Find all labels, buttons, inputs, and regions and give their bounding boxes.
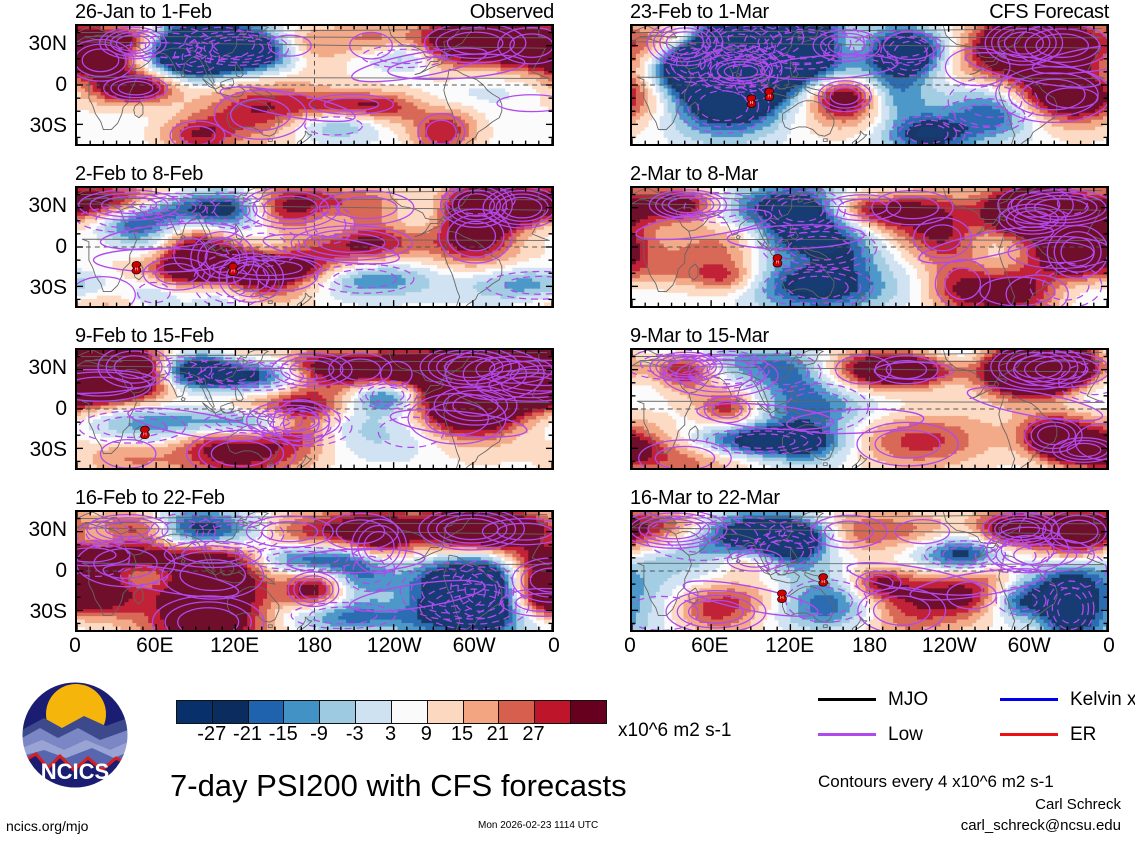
legend-label: ER [1070, 725, 1096, 744]
x-tick-label: 120W [922, 634, 977, 658]
y-tick-label: 0 [55, 235, 67, 259]
y-tick-label: 30S [30, 114, 67, 138]
x-tick-label: 180 [297, 634, 332, 658]
map-plot-area [630, 348, 1109, 470]
x-tick-label: 120W [367, 634, 422, 658]
x-axis-left: 060E120E180120W60W0 [75, 630, 554, 656]
legend-entry: Kelvin x2 [1000, 690, 1135, 709]
y-axis-labels: 30N030S [5, 510, 67, 632]
legend-label: MJO [888, 690, 928, 709]
map-plot-area: H H [630, 510, 1109, 632]
map-panel: 26-Jan to 1-FebObserved30N030S [75, 24, 554, 146]
colorbar-units-label: x10^6 m2 s-1 [618, 720, 731, 742]
map-plot-area: H [75, 348, 554, 470]
colorbar-tick-label: -9 [310, 723, 328, 746]
author-email: carl_schreck@ncsu.edu [961, 817, 1121, 834]
colorbar-tick-label: 27 [522, 723, 544, 746]
map-panel: 16-Mar to 22-Mar H H [630, 510, 1109, 632]
contour-interval-note: Contours every 4 x10^6 m2 s-1 [818, 772, 1054, 792]
y-tick-label: 30N [28, 194, 67, 218]
map-plot-area [75, 24, 554, 146]
colorbar-tick-label: -3 [346, 723, 364, 746]
panel-title: 2-Mar to 8-Mar [630, 164, 758, 184]
y-tick-label: 30S [30, 600, 67, 624]
colorbar-tick-labels: -27-21-15-9-339152127 [176, 723, 605, 747]
y-axis-labels: 30N030S [5, 348, 67, 470]
colorbar-segment [499, 701, 535, 723]
colorbar-tick-label: 3 [385, 723, 396, 746]
y-tick-label: 30N [28, 32, 67, 56]
ncics-logo-icon: NCICS [14, 678, 136, 796]
colorbar-tick-label: 15 [451, 723, 473, 746]
colorbar-segment [464, 701, 500, 723]
series-legend: MJOLowKelvin x2ER [818, 685, 1128, 745]
x-tick-label: 0 [69, 634, 81, 658]
colorbar-segment [428, 701, 464, 723]
legend-label: Low [888, 725, 923, 744]
map-panel: 23-Feb to 1-MarCFS Forecast H H [630, 24, 1109, 146]
colorbar-tick-label: -21 [233, 723, 262, 746]
legend-line-swatch [818, 698, 876, 701]
y-axis-labels: 30N030S [5, 24, 67, 146]
ncics-logo-text: NCICS [41, 759, 109, 784]
panel-title: 23-Feb to 1-Mar [630, 2, 769, 22]
author-name: Carl Schreck [1035, 796, 1121, 813]
map-plot-area: H H [630, 24, 1109, 146]
x-tick-label: 180 [852, 634, 887, 658]
panel-title: 16-Feb to 22-Feb [75, 488, 225, 508]
x-tick-label: 60E [136, 634, 173, 658]
y-tick-label: 30S [30, 276, 67, 300]
figure-canvas: 26-Jan to 1-FebObserved30N030S2-Feb to 8… [0, 0, 1135, 844]
colorbar-tick-label: -27 [197, 723, 226, 746]
x-tick-label: 120E [765, 634, 814, 658]
panel-column-header: Observed [470, 2, 554, 22]
colorbar-segment [571, 701, 606, 723]
colorbar-tick-label: 9 [421, 723, 432, 746]
colorbar [176, 700, 607, 724]
legend-label: Kelvin x2 [1070, 690, 1135, 709]
panel-title: 9-Feb to 15-Feb [75, 326, 214, 346]
colorbar-segment [213, 701, 249, 723]
generation-timestamp: Mon 2026-02-23 1114 UTC [478, 820, 598, 831]
colorbar-segment [392, 701, 428, 723]
colorbar-segment [284, 701, 320, 723]
map-panel: 2-Feb to 8-Feb H H 30N030S [75, 186, 554, 308]
site-url: ncics.org/mjo [6, 818, 88, 834]
map-plot-area: H [630, 186, 1109, 308]
map-plot-area: H H [75, 186, 554, 308]
panel-column-header: CFS Forecast [989, 2, 1109, 22]
panel-title: 2-Feb to 8-Feb [75, 164, 203, 184]
y-axis-labels: 30N030S [5, 186, 67, 308]
y-tick-label: 30S [30, 438, 67, 462]
colorbar-segment [177, 701, 213, 723]
map-panel: 16-Feb to 22-Feb30N030S [75, 510, 554, 632]
y-tick-label: 30N [28, 356, 67, 380]
y-tick-label: 0 [55, 73, 67, 97]
colorbar-tick-label: -15 [269, 723, 298, 746]
colorbar-tick-label: 21 [487, 723, 509, 746]
legend-entry: Low [818, 725, 923, 744]
y-tick-label: 30N [28, 518, 67, 542]
colorbar-segment [320, 701, 356, 723]
legend-line-swatch [1000, 733, 1058, 736]
map-panel: 2-Mar to 8-Mar H [630, 186, 1109, 308]
legend-entry: MJO [818, 690, 928, 709]
panel-title: 9-Mar to 15-Mar [630, 326, 769, 346]
x-tick-label: 120E [210, 634, 259, 658]
x-tick-label: 60W [1008, 634, 1051, 658]
x-tick-label: 0 [1103, 634, 1115, 658]
legend-line-swatch [1000, 698, 1058, 701]
map-panel: 9-Feb to 15-Feb H 30N030S [75, 348, 554, 470]
x-tick-label: 60E [691, 634, 728, 658]
legend-line-swatch [818, 733, 876, 736]
colorbar-segment [535, 701, 571, 723]
legend-entry: ER [1000, 725, 1096, 744]
y-tick-label: 0 [55, 559, 67, 583]
ncics-logo: NCICS [14, 678, 136, 796]
colorbar-segment [356, 701, 392, 723]
map-panel: 9-Mar to 15-Mar [630, 348, 1109, 470]
main-title: 7-day PSI200 with CFS forecasts [170, 768, 627, 804]
x-tick-label: 60W [453, 634, 496, 658]
panel-title: 26-Jan to 1-Feb [75, 2, 212, 22]
colorbar-segment [249, 701, 285, 723]
x-axis-right: 060E120E180120W60W0 [630, 630, 1109, 656]
y-tick-label: 0 [55, 397, 67, 421]
panel-title: 16-Mar to 22-Mar [630, 488, 780, 508]
map-plot-area [75, 510, 554, 632]
x-tick-label: 0 [624, 634, 636, 658]
x-tick-label: 0 [548, 634, 560, 658]
